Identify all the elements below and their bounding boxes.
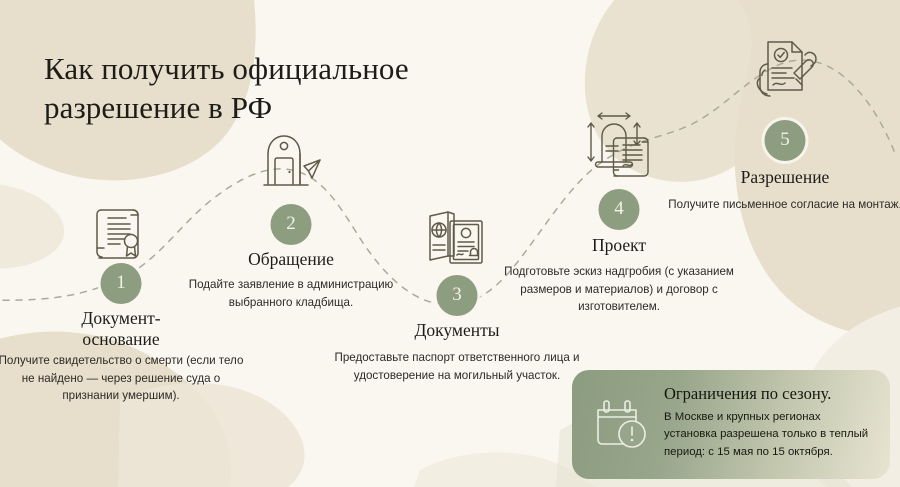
step-1-title-line-1: Документ- bbox=[81, 308, 160, 328]
step-5-description: Получите письменное согласие на монтаж. bbox=[660, 196, 900, 214]
step-2-description: Подайте заявление в администрацию выбран… bbox=[166, 276, 416, 311]
certificate-scroll-icon bbox=[84, 196, 158, 270]
step-2-title: Обращение bbox=[171, 249, 411, 270]
step-4-title: Проект bbox=[499, 235, 739, 256]
page-title: Как получить официальное разрешение в РФ bbox=[44, 49, 514, 127]
step-4-description: Подготовьте эскиз надгробия (с указанием… bbox=[494, 263, 744, 316]
callout-title: Ограничения по сезону. bbox=[664, 384, 831, 404]
step-1-description: Получите свидетельство о смерти (если те… bbox=[0, 352, 246, 405]
step-3-number: 3 bbox=[452, 285, 462, 306]
step-1-number: 1 bbox=[116, 273, 126, 294]
callout-body: В Москве и крупных регионах установка ра… bbox=[664, 409, 876, 461]
calendar-warning-icon bbox=[592, 396, 650, 452]
page-title-line-2: разрешение в РФ bbox=[44, 88, 514, 127]
step-1-badge: 1 bbox=[101, 263, 142, 304]
page-title-line-1: Как получить официальное bbox=[44, 51, 409, 86]
step-4-badge: 4 bbox=[599, 189, 640, 230]
season-restrictions-callout: Ограничения по сезону. В Москве и крупны… bbox=[572, 370, 890, 479]
step-2-number: 2 bbox=[286, 214, 296, 235]
step-5-number: 5 bbox=[780, 130, 790, 151]
step-3-description: Предоставьте паспорт ответственного лица… bbox=[332, 349, 582, 384]
step-3-title: Документы bbox=[337, 320, 577, 341]
infographic-canvas: Как получить официальное разрешение в РФ… bbox=[0, 0, 900, 487]
step-5-title: Разрешение bbox=[665, 167, 900, 188]
passport-certificate-icon bbox=[420, 203, 494, 277]
step-4-number: 4 bbox=[614, 199, 624, 220]
headstone-measurements-scroll-icon bbox=[582, 108, 656, 182]
step-2-badge: 2 bbox=[271, 204, 312, 245]
step-3-badge: 3 bbox=[437, 275, 478, 316]
step-5-badge: 5 bbox=[765, 120, 806, 161]
hand-stamped-document-icon bbox=[748, 30, 822, 104]
door-entrance-paper-plane-icon bbox=[254, 128, 328, 202]
step-1-title-line-2: основание bbox=[82, 329, 159, 349]
step-1-title: Документ- основание bbox=[1, 308, 241, 351]
